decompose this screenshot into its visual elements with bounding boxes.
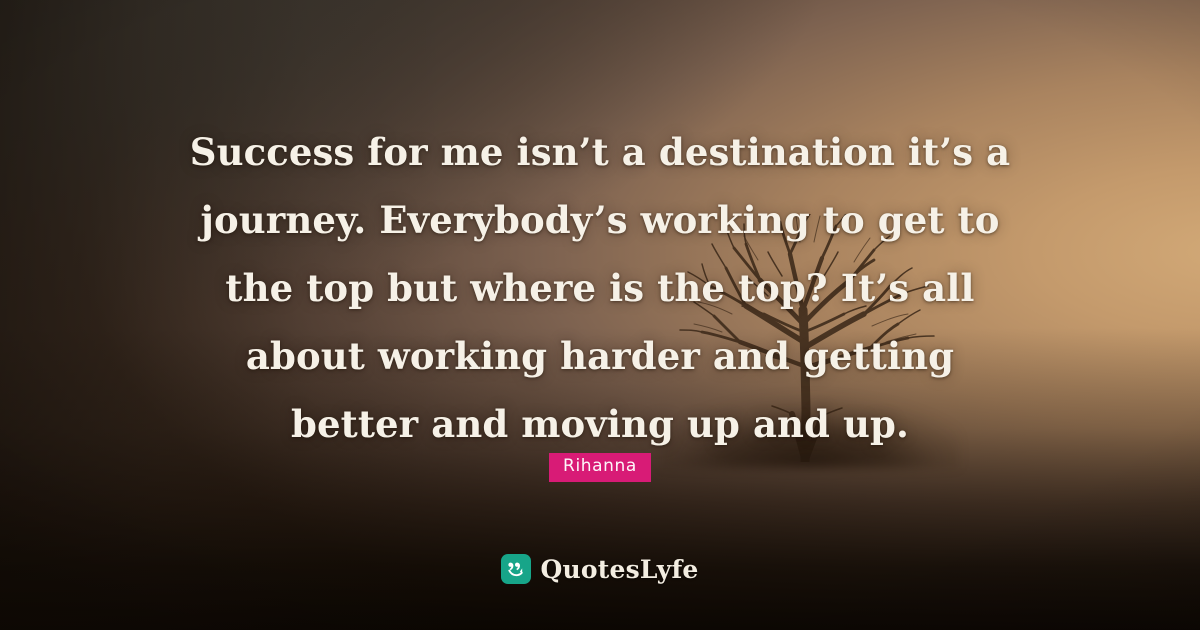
author-badge: Rihanna [549,453,651,482]
brand-watermark: QuotesLyfe [0,554,1200,584]
author-row: Rihanna [0,453,1200,482]
quote-card: Success for me isn’t a destination it’s … [0,0,1200,630]
brand-name: QuotesLyfe [540,555,698,584]
quote-text: Success for me isn’t a destination it’s … [0,118,1200,458]
quote-mark-icon [501,554,531,584]
